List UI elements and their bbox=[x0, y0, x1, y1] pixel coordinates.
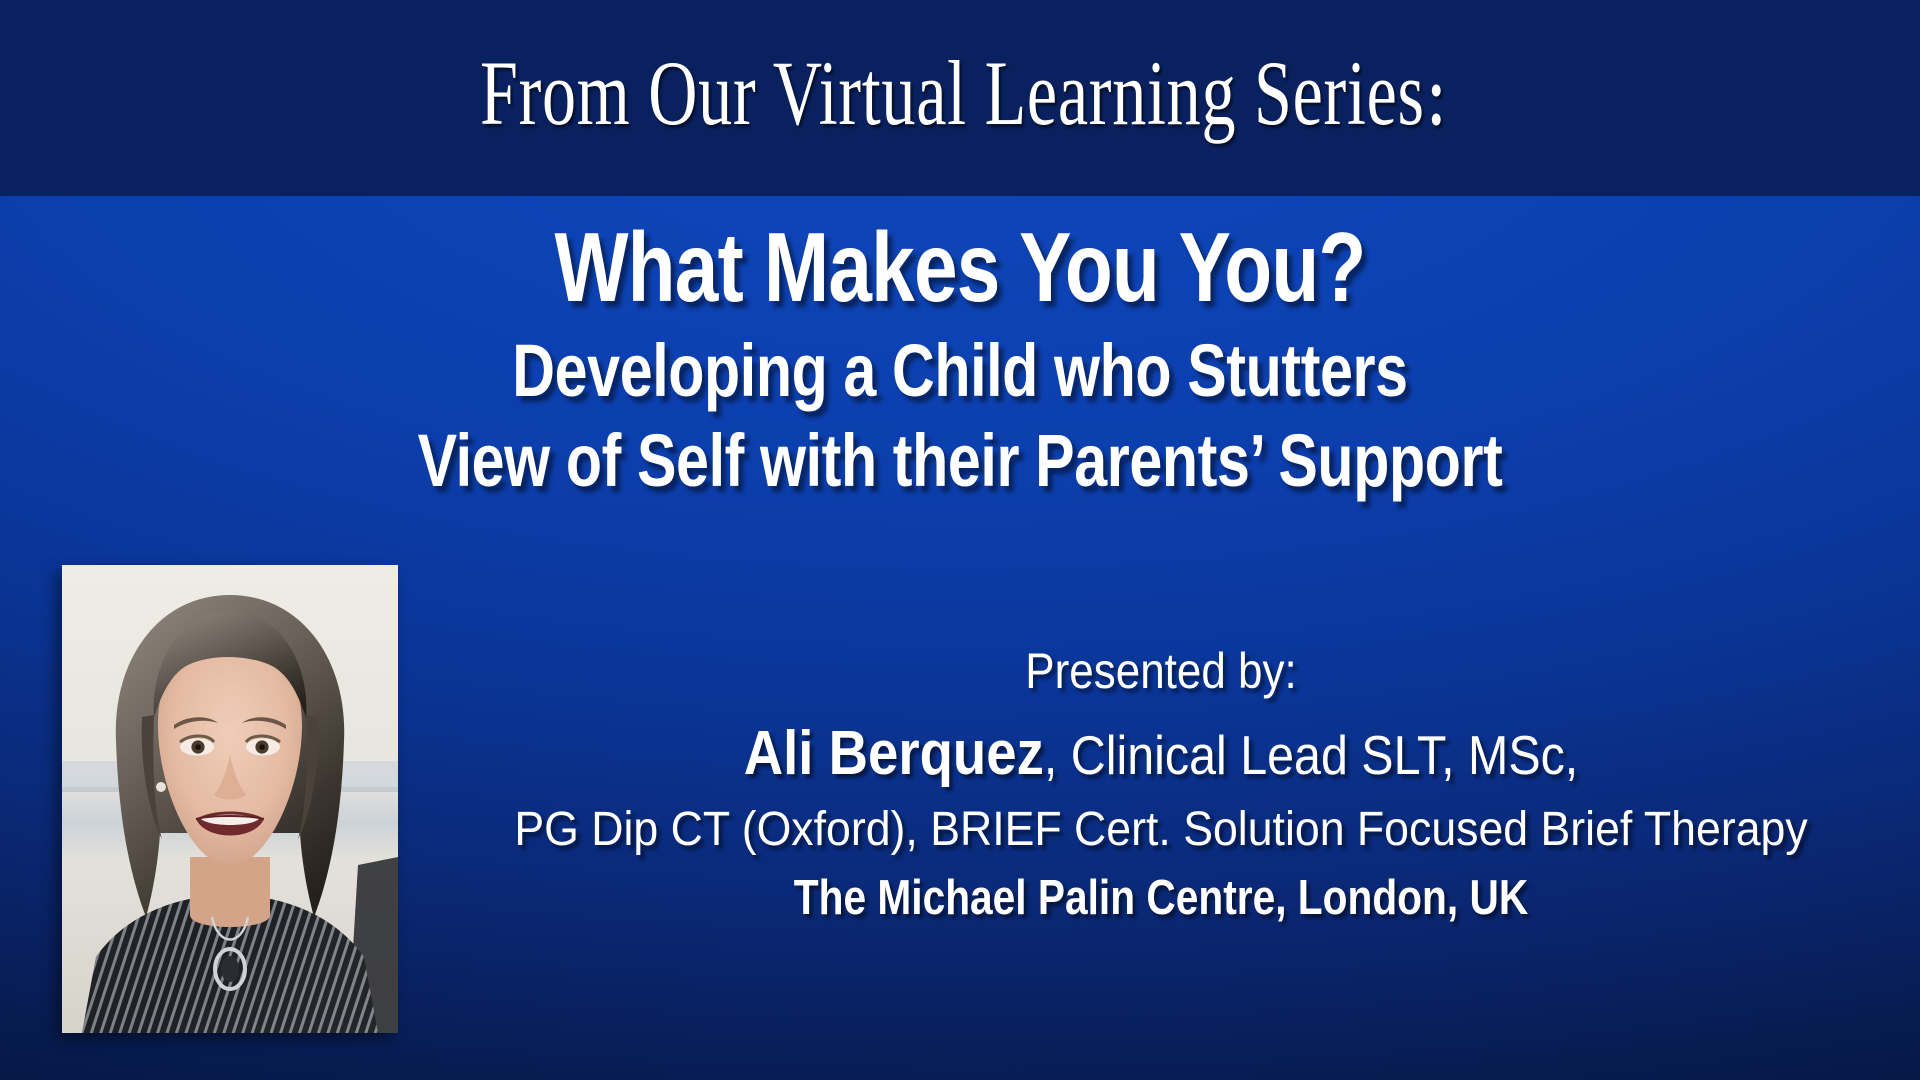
title-line-sub-2: View of Self with their Parents’ Support bbox=[192, 416, 1728, 506]
presenter-organisation: The Michael Palin Centre, London, UK bbox=[554, 866, 1767, 932]
presenter-block: Presented by: Ali Berquez, Clinical Lead… bbox=[430, 638, 1892, 932]
presented-by-label: Presented by: bbox=[518, 638, 1805, 704]
presenter-headshot-image bbox=[62, 565, 398, 1033]
header-band: From Our Virtual Learning Series: bbox=[0, 0, 1920, 196]
title-block: What Makes You You? Developing a Child w… bbox=[0, 196, 1920, 506]
header-series-title: From Our Virtual Learning Series: bbox=[480, 47, 1448, 149]
presenter-photo bbox=[62, 565, 398, 1033]
presenter-name: Ali Berquez bbox=[744, 719, 1044, 788]
presentation-slide: From Our Virtual Learning Series: What M… bbox=[0, 0, 1920, 1080]
header-series-title-text: From Our Virtual Learning Series bbox=[480, 42, 1425, 144]
header-colon-glyph: : bbox=[1425, 39, 1448, 146]
presenter-name-suffix: , Clinical Lead SLT, MSc, bbox=[1044, 724, 1578, 786]
presenter-name-line: Ali Berquez, Clinical Lead SLT, MSc, bbox=[518, 710, 1805, 798]
title-line-main: What Makes You You? bbox=[192, 196, 1728, 326]
title-line-sub-1: Developing a Child who Stutters bbox=[192, 326, 1728, 416]
presenter-credentials: PG Dip CT (Oxford), BRIEF Cert. Solution… bbox=[481, 798, 1841, 862]
